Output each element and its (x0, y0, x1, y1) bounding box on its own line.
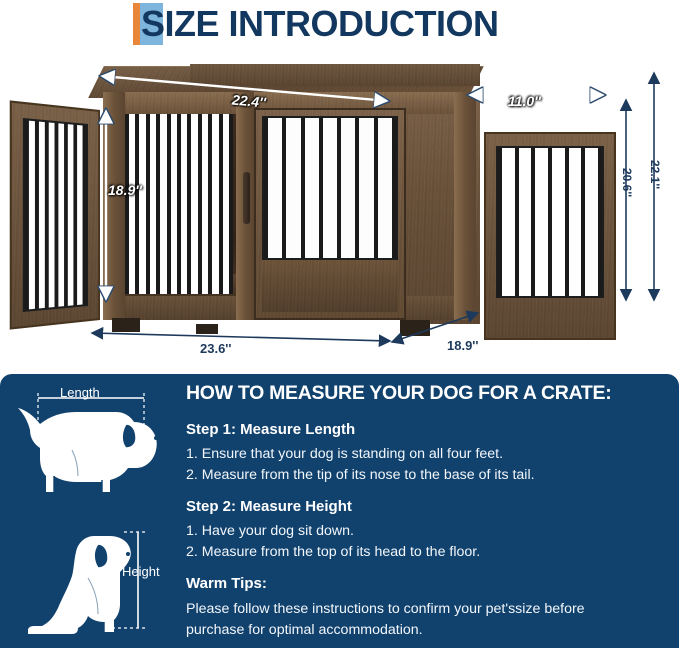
crate-foot-right (400, 320, 430, 336)
crate-center-door-panel (262, 260, 398, 312)
crate-bar (531, 148, 535, 296)
crate-right-stile (454, 92, 476, 320)
crate-bar (73, 125, 77, 306)
crate-center-door-bars (262, 116, 398, 260)
crate-foot-left (112, 318, 140, 332)
crate-bar (229, 114, 233, 294)
crate-bar (35, 121, 39, 309)
dog-height-label: Height (122, 564, 160, 579)
step-2-line-1: 1. Have your dog sit down. (186, 523, 354, 539)
step-2-line-2: 2. Measure from the top of its head to t… (186, 544, 480, 560)
crate-left-door-bars (23, 118, 88, 312)
dog-length-label: Length (60, 385, 100, 400)
crate-bar (598, 148, 602, 296)
crate-bar (282, 118, 286, 258)
dimension-label-left-interior-height: 18.9'' (108, 182, 142, 198)
crate-bar (319, 118, 323, 258)
crate-bar (301, 118, 305, 258)
crate-bar (337, 118, 341, 258)
dimension-label-inner-height: 20.6'' (620, 168, 634, 197)
crate-bar (498, 148, 502, 296)
crate-bar (83, 126, 87, 305)
step-2-title: Step 2: Measure Height (186, 498, 352, 515)
crate-left-panel-bars (125, 114, 233, 294)
dimension-label-right-door-width: 11.0'' (508, 93, 541, 109)
title-accent-bar-orange (133, 3, 140, 45)
page-title: SIZE INTRODUCTION (141, 2, 499, 46)
crate-foot-center (196, 324, 218, 334)
crate-top-front-edge (190, 64, 480, 86)
crate-bar (198, 114, 202, 294)
step-1-line-1: 1. Ensure that your dog is standing on a… (186, 446, 503, 462)
crate-bar (64, 124, 68, 306)
crate-left-stile (103, 92, 125, 320)
crate-bar (264, 118, 268, 258)
step-1-title: Step 1: Measure Length (186, 421, 355, 438)
crate-bar (135, 114, 139, 294)
crate-bar (219, 114, 223, 294)
warm-tips-line-1: Please follow these instructions to conf… (186, 601, 585, 617)
crate-bar (515, 148, 519, 296)
dimension-label-overall-depth: 18.9'' (447, 338, 478, 353)
guide-heading: HOW TO MEASURE YOUR DOG FOR A CRATE: (186, 382, 611, 405)
dimension-label-overall-width: 23.6'' (200, 341, 231, 356)
crate-bar (167, 114, 171, 294)
crate-bar (25, 120, 29, 309)
crate-right-door-bars (496, 146, 604, 298)
crate-bar (355, 118, 359, 258)
title-bar: SIZE INTRODUCTION (0, 0, 679, 52)
crate-bar (125, 114, 129, 294)
product-image-area (0, 52, 679, 374)
crate-door-handle (243, 172, 250, 224)
warm-tips-line-2: purchase for optimal accommodation. (186, 622, 423, 638)
crate-bar (581, 148, 585, 296)
crate-bar (548, 148, 552, 296)
crate-bar (392, 118, 396, 258)
crate-bar (565, 148, 569, 296)
crate-bar (45, 122, 49, 308)
crate-bar (55, 123, 59, 307)
crate-bar (156, 114, 160, 294)
crate-bar (374, 118, 378, 258)
warm-tips-title: Warm Tips: (186, 575, 267, 592)
crate-bar (187, 114, 191, 294)
step-1-line-2: 2. Measure from the tip of its nose to t… (186, 467, 535, 483)
dog-illustrations: Length Height (0, 374, 176, 648)
crate-bar (146, 114, 150, 294)
dimension-label-overall-height: 22.1'' (648, 160, 662, 189)
dimension-label-top-front-width: 22.4'' (231, 92, 266, 111)
crate-bar (208, 114, 212, 294)
crate-bar (177, 114, 181, 294)
